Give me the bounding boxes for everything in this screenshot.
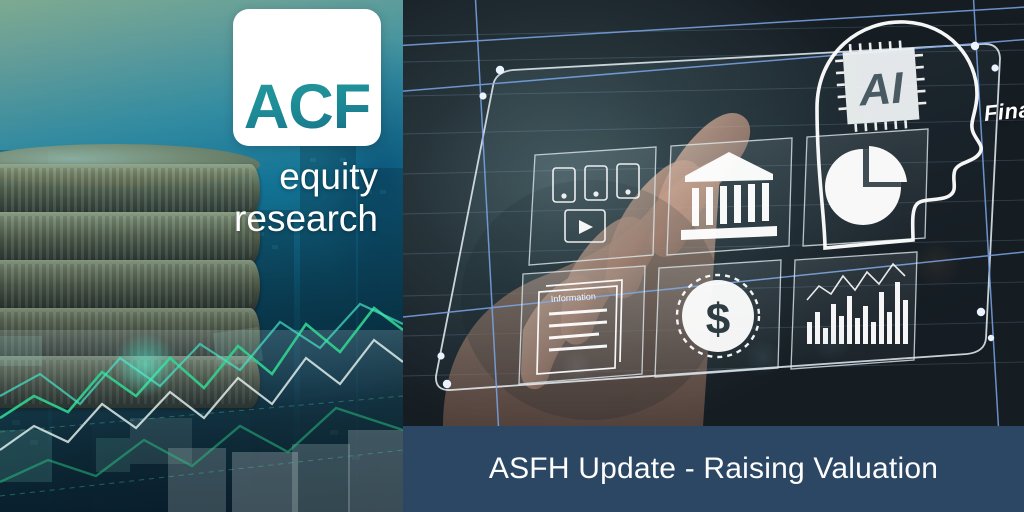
tile-information: Information — [519, 266, 645, 384]
tile-barchart — [791, 252, 917, 369]
rising-chart-lines — [0, 300, 403, 512]
tile-dollar: $ — [655, 260, 781, 377]
brand-tagline-research: research — [234, 200, 378, 237]
banner-title-text: ASFH Update - Raising Valuation — [489, 452, 938, 486]
svg-text:$: $ — [706, 295, 730, 344]
tile-bank — [667, 138, 792, 255]
ai-badge-text: AI — [857, 63, 906, 115]
brand-tagline-equity: equity — [279, 158, 378, 195]
title-banner: ASFH Update - Raising Valuation — [403, 426, 1024, 512]
service-icon-tiles: Information $ — [403, 0, 1024, 426]
acf-logo-text: ACF — [233, 76, 381, 139]
acf-logo-card: ACF — [233, 9, 381, 146]
right-hero-photo: Information $ — [403, 0, 1024, 426]
promo-banner-image: ACF equity research — [0, 0, 1024, 512]
tile-cards — [529, 147, 656, 265]
left-hero-photo: ACF equity research — [0, 0, 403, 512]
chart-node-glow — [110, 330, 180, 400]
